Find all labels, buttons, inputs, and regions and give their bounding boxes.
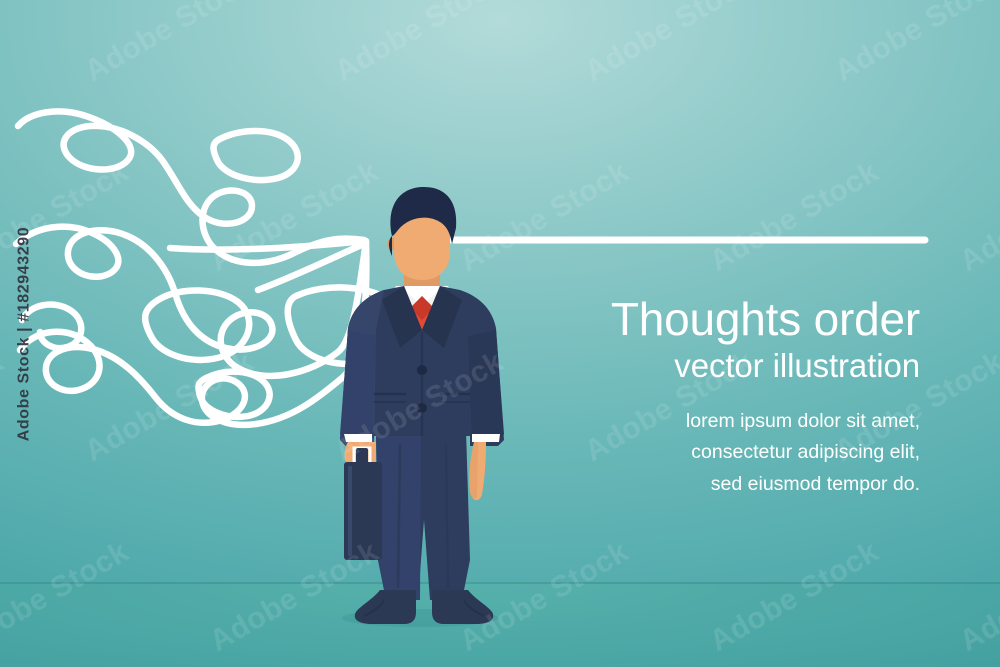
shoe-left [355,590,416,624]
briefcase [344,448,382,560]
sleeve-right [468,330,504,442]
body-line-1: lorem ipsum dolor sit amet, [520,406,920,438]
cuff-left [344,434,372,442]
hand-right-shade [469,442,478,498]
illustration-canvas: Thoughts order vector illustration lorem… [0,0,1000,667]
body-copy: lorem ipsum dolor sit amet, consectetur … [520,406,920,501]
text-block: Thoughts order vector illustration lorem… [520,296,920,501]
jacket-button-top [417,365,427,375]
shoe-right [432,590,493,624]
body-line-2: consectetur adipiscing elit, [520,437,920,469]
headline: Thoughts order [520,296,920,343]
body-line-3: sed eiusmod tempor do. [520,469,920,501]
briefcase-clasp [356,448,368,464]
jacket-button-bottom [417,403,427,413]
cuff-right [472,434,500,442]
subheadline: vector illustration [520,347,920,386]
